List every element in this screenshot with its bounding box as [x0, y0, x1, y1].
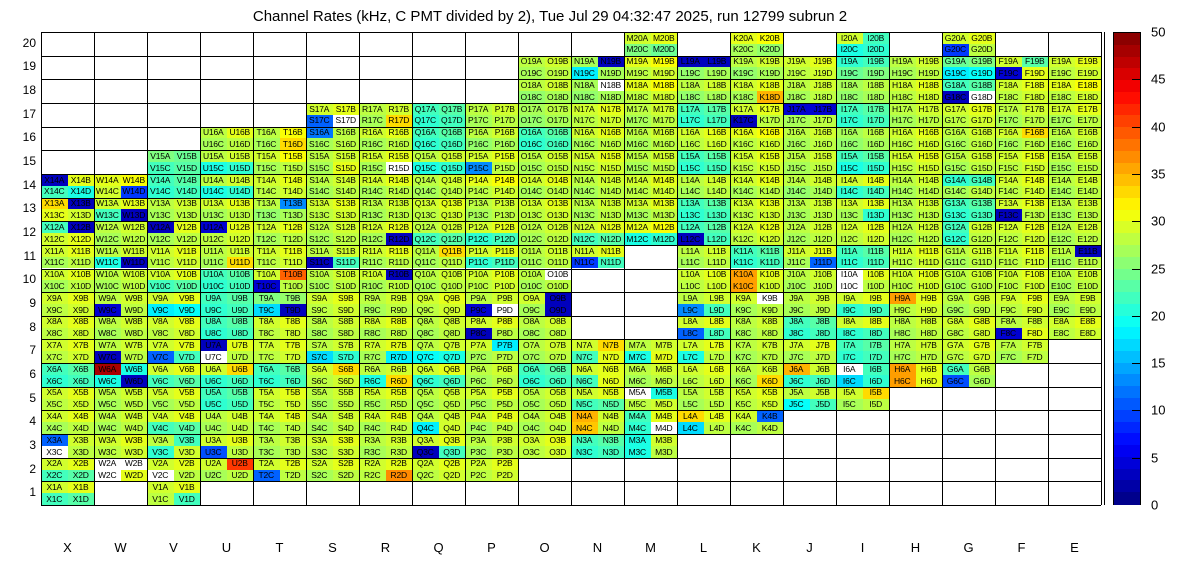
heatmap-cell[interactable]: H9AH9BH9CH9D: [889, 292, 942, 316]
channel-subcell[interactable]: I7A: [836, 339, 863, 351]
channel-subcell[interactable]: M17C: [624, 115, 651, 127]
channel-subcell[interactable]: U16B: [227, 127, 254, 139]
channel-subcell[interactable]: M19D: [651, 67, 678, 79]
channel-subcell[interactable]: J12D: [810, 233, 837, 245]
channel-subcell[interactable]: R7A: [359, 339, 386, 351]
channel-subcell[interactable]: F7C: [995, 351, 1022, 363]
channel-subcell[interactable]: S12B: [333, 221, 360, 233]
channel-subcell[interactable]: U12A: [200, 221, 227, 233]
channel-subcell[interactable]: T9C: [253, 304, 280, 316]
channel-subcell[interactable]: I8C: [836, 328, 863, 340]
heatmap-cell[interactable]: L6AL6BL6CL6D: [677, 363, 730, 387]
channel-subcell[interactable]: L8A: [677, 316, 704, 328]
channel-subcell[interactable]: V7B: [174, 339, 201, 351]
channel-subcell[interactable]: P6D: [492, 375, 519, 387]
channel-subcell[interactable]: M19A: [624, 56, 651, 68]
channel-subcell[interactable]: K18C: [730, 91, 757, 103]
channel-subcell[interactable]: U5C: [200, 399, 227, 411]
channel-subcell[interactable]: R17C: [359, 115, 386, 127]
heatmap-cell[interactable]: K10AK10BK10CK10D: [730, 269, 783, 293]
channel-subcell[interactable]: P2B: [492, 458, 519, 470]
channel-subcell[interactable]: T11A: [253, 245, 280, 257]
channel-subcell[interactable]: X4D: [68, 422, 95, 434]
channel-subcell[interactable]: I10B: [863, 269, 890, 281]
channel-subcell[interactable]: W9C: [94, 304, 121, 316]
heatmap-cell[interactable]: E19AE19BE19CE19D: [1048, 56, 1101, 80]
channel-subcell[interactable]: S16D: [333, 138, 360, 150]
channel-subcell[interactable]: W6B: [121, 363, 148, 375]
heatmap-cell[interactable]: X6AX6BX6CX6D: [41, 363, 94, 387]
channel-subcell[interactable]: P7C: [465, 351, 492, 363]
channel-subcell[interactable]: X14B: [68, 174, 95, 186]
channel-subcell[interactable]: W7D: [121, 351, 148, 363]
heatmap-cell[interactable]: T10AT10BT10CT10D: [253, 269, 306, 293]
channel-subcell[interactable]: J16D: [810, 138, 837, 150]
channel-subcell[interactable]: K17C: [730, 115, 757, 127]
channel-subcell[interactable]: H13A: [889, 198, 916, 210]
channel-subcell[interactable]: O16B: [545, 127, 572, 139]
channel-subcell[interactable]: U8D: [227, 328, 254, 340]
channel-subcell[interactable]: K14C: [730, 186, 757, 198]
channel-subcell[interactable]: R16C: [359, 138, 386, 150]
heatmap-cell[interactable]: R3AR3BR3CR3D: [359, 434, 412, 458]
channel-subcell[interactable]: Q10D: [439, 280, 466, 292]
channel-subcell[interactable]: I11D: [863, 257, 890, 269]
channel-subcell[interactable]: G14B: [969, 174, 996, 186]
channel-subcell[interactable]: P4C: [465, 422, 492, 434]
heatmap-cell[interactable]: O14AO14BO14CO14D: [518, 174, 571, 198]
channel-subcell[interactable]: G18D: [969, 91, 996, 103]
channel-subcell[interactable]: P10B: [492, 269, 519, 281]
channel-subcell[interactable]: P16C: [465, 138, 492, 150]
channel-subcell[interactable]: H9B: [916, 292, 943, 304]
channel-subcell[interactable]: V8A: [147, 316, 174, 328]
channel-subcell[interactable]: O10D: [545, 280, 572, 292]
heatmap-cell[interactable]: E10AE10BE10CE10D: [1048, 269, 1101, 293]
channel-subcell[interactable]: Q6B: [439, 363, 466, 375]
channel-subcell[interactable]: F13D: [1022, 209, 1049, 221]
channel-subcell[interactable]: V15C: [147, 162, 174, 174]
channel-subcell[interactable]: X12C: [41, 233, 68, 245]
channel-subcell[interactable]: V4B: [174, 410, 201, 422]
channel-subcell[interactable]: N6C: [571, 375, 598, 387]
channel-subcell[interactable]: I14B: [863, 174, 890, 186]
channel-subcell[interactable]: Q15D: [439, 162, 466, 174]
channel-subcell[interactable]: I8D: [863, 328, 890, 340]
heatmap-cell[interactable]: J14AJ14BJ14CJ14D: [783, 174, 836, 198]
channel-subcell[interactable]: H7D: [916, 351, 943, 363]
heatmap-cell[interactable]: T16AT16BT16CT16D: [253, 127, 306, 151]
channel-subcell[interactable]: T16A: [253, 127, 280, 139]
channel-subcell[interactable]: T14B: [280, 174, 307, 186]
channel-subcell[interactable]: O17D: [545, 115, 572, 127]
channel-subcell[interactable]: L15A: [677, 150, 704, 162]
channel-subcell[interactable]: G13C: [942, 209, 969, 221]
channel-subcell[interactable]: N12D: [598, 233, 625, 245]
channel-subcell[interactable]: H18B: [916, 79, 943, 91]
channel-subcell[interactable]: P13A: [465, 198, 492, 210]
channel-subcell[interactable]: R8B: [386, 316, 413, 328]
channel-subcell[interactable]: R2A: [359, 458, 386, 470]
heatmap-cell[interactable]: V13AV13BV13CV13D: [147, 198, 200, 222]
channel-subcell[interactable]: E15C: [1048, 162, 1075, 174]
channel-subcell[interactable]: F11B: [1022, 245, 1049, 257]
channel-subcell[interactable]: F9A: [995, 292, 1022, 304]
channel-subcell[interactable]: Q13C: [412, 209, 439, 221]
channel-subcell[interactable]: M13D: [651, 209, 678, 221]
heatmap-cell[interactable]: S14AS14BS14CS14D: [306, 174, 359, 198]
channel-subcell[interactable]: E16D: [1075, 138, 1102, 150]
channel-subcell[interactable]: G6A: [942, 363, 969, 375]
heatmap-cell[interactable]: R9AR9BR9CR9D: [359, 292, 412, 316]
channel-subcell[interactable]: J12A: [783, 221, 810, 233]
channel-subcell[interactable]: U6B: [227, 363, 254, 375]
channel-subcell[interactable]: P9C: [465, 304, 492, 316]
heatmap-cell[interactable]: Q11AQ11BQ11CQ11D: [412, 245, 465, 269]
channel-subcell[interactable]: R10C: [359, 280, 386, 292]
channel-subcell[interactable]: I8B: [863, 316, 890, 328]
channel-subcell[interactable]: L8B: [704, 316, 731, 328]
channel-subcell[interactable]: P6B: [492, 363, 519, 375]
heatmap-cell[interactable]: N4AN4BN4CN4D: [571, 410, 624, 434]
channel-subcell[interactable]: P8D: [492, 328, 519, 340]
heatmap-cell[interactable]: H6AH6BH6CH6D: [889, 363, 942, 387]
channel-subcell[interactable]: T7D: [280, 351, 307, 363]
channel-subcell[interactable]: T14D: [280, 186, 307, 198]
channel-subcell[interactable]: G11A: [942, 245, 969, 257]
channel-subcell[interactable]: Q13D: [439, 209, 466, 221]
heatmap-cell[interactable]: T7AT7BT7CT7D: [253, 339, 306, 363]
channel-subcell[interactable]: G11C: [942, 257, 969, 269]
channel-subcell[interactable]: Q2D: [439, 470, 466, 482]
channel-subcell[interactable]: X9B: [68, 292, 95, 304]
channel-subcell[interactable]: O11A: [518, 245, 545, 257]
channel-subcell[interactable]: S14C: [306, 186, 333, 198]
heatmap-cell[interactable]: G9AG9BG9CG9D: [942, 292, 995, 316]
channel-subcell[interactable]: H6B: [916, 363, 943, 375]
channel-subcell[interactable]: G11D: [969, 257, 996, 269]
channel-subcell[interactable]: K13C: [730, 209, 757, 221]
channel-subcell[interactable]: U6A: [200, 363, 227, 375]
channel-subcell[interactable]: O18C: [518, 91, 545, 103]
heatmap-cell[interactable]: V8AV8BV8CV8D: [147, 316, 200, 340]
channel-subcell[interactable]: M5B: [651, 387, 678, 399]
heatmap-cell[interactable]: K17AK17BK17CK17D: [730, 103, 783, 127]
channel-subcell[interactable]: S4D: [333, 422, 360, 434]
channel-subcell[interactable]: T3D: [280, 446, 307, 458]
channel-subcell[interactable]: I6C: [836, 375, 863, 387]
heatmap-cell[interactable]: E12AE12BE12CE12D: [1048, 221, 1101, 245]
channel-subcell[interactable]: U2D: [227, 470, 254, 482]
channel-subcell[interactable]: W9A: [94, 292, 121, 304]
heatmap-cell[interactable]: H10AH10BH10CH10D: [889, 269, 942, 293]
channel-subcell[interactable]: J10A: [783, 269, 810, 281]
channel-subcell[interactable]: Q16A: [412, 127, 439, 139]
channel-subcell[interactable]: E9B: [1075, 292, 1102, 304]
channel-subcell[interactable]: J10D: [810, 280, 837, 292]
channel-subcell[interactable]: F12D: [1022, 233, 1049, 245]
channel-subcell[interactable]: K10A: [730, 269, 757, 281]
channel-subcell[interactable]: R14C: [359, 186, 386, 198]
heatmap-cell[interactable]: U11AU11BU11CU11D: [200, 245, 253, 269]
channel-subcell[interactable]: S6D: [333, 375, 360, 387]
channel-subcell[interactable]: U14B: [227, 174, 254, 186]
channel-subcell[interactable]: E11D: [1075, 257, 1102, 269]
channel-subcell[interactable]: F7D: [1022, 351, 1049, 363]
channel-subcell[interactable]: I18C: [836, 91, 863, 103]
channel-subcell[interactable]: N18C: [571, 91, 598, 103]
heatmap-cell[interactable]: G18AG18BG18CG18D: [942, 79, 995, 103]
channel-subcell[interactable]: V10A: [147, 269, 174, 281]
heatmap-cell[interactable]: Q13AQ13BQ13CQ13D: [412, 198, 465, 222]
channel-subcell[interactable]: Q12C: [412, 233, 439, 245]
heatmap-cell[interactable]: H16AH16BH16CH16D: [889, 127, 942, 151]
channel-subcell[interactable]: I13D: [863, 209, 890, 221]
channel-subcell[interactable]: L18A: [677, 79, 704, 91]
channel-subcell[interactable]: Q3A: [412, 434, 439, 446]
channel-subcell[interactable]: P9B: [492, 292, 519, 304]
channel-subcell[interactable]: S9C: [306, 304, 333, 316]
channel-subcell[interactable]: R9B: [386, 292, 413, 304]
channel-subcell[interactable]: K20D: [757, 44, 784, 56]
channel-subcell[interactable]: J19A: [783, 56, 810, 68]
heatmap-cell[interactable]: L19AL19BL19CL19D: [677, 56, 730, 80]
channel-subcell[interactable]: U4A: [200, 410, 227, 422]
channel-subcell[interactable]: N6B: [598, 363, 625, 375]
channel-subcell[interactable]: Q2C: [412, 470, 439, 482]
heatmap-cell[interactable]: W3AW3BW3CW3D: [94, 434, 147, 458]
channel-subcell[interactable]: R11C: [359, 257, 386, 269]
heatmap-cell[interactable]: K18AK18BK18CK18D: [730, 79, 783, 103]
channel-subcell[interactable]: E12D: [1075, 233, 1102, 245]
channel-subcell[interactable]: T4C: [253, 422, 280, 434]
channel-subcell[interactable]: M17B: [651, 103, 678, 115]
channel-subcell[interactable]: L16B: [704, 127, 731, 139]
channel-subcell[interactable]: F16A: [995, 127, 1022, 139]
channel-subcell[interactable]: L13B: [704, 198, 731, 210]
channel-subcell[interactable]: V1D: [174, 493, 201, 505]
heatmap-cell[interactable]: R14AR14BR14CR14D: [359, 174, 412, 198]
channel-subcell[interactable]: R4D: [386, 422, 413, 434]
channel-subcell[interactable]: V11D: [174, 257, 201, 269]
channel-subcell[interactable]: U9B: [227, 292, 254, 304]
heatmap-cell[interactable]: L7AL7BL7CL7D: [677, 339, 730, 363]
channel-subcell[interactable]: P3B: [492, 434, 519, 446]
channel-subcell[interactable]: R8A: [359, 316, 386, 328]
channel-subcell[interactable]: O13A: [518, 198, 545, 210]
channel-subcell[interactable]: R12C: [359, 233, 386, 245]
heatmap-cell[interactable]: M3AM3BM3CM3D: [624, 434, 677, 458]
channel-subcell[interactable]: W5D: [121, 399, 148, 411]
channel-subcell[interactable]: I8A: [836, 316, 863, 328]
channel-subcell[interactable]: N19A: [571, 56, 598, 68]
heatmap-cell[interactable]: T14AT14BT14CT14D: [253, 174, 306, 198]
channel-subcell[interactable]: I16A: [836, 127, 863, 139]
channel-subcell[interactable]: V10D: [174, 280, 201, 292]
channel-subcell[interactable]: O18B: [545, 79, 572, 91]
channel-subcell[interactable]: E17A: [1048, 103, 1075, 115]
heatmap-cell[interactable]: P14AP14BP14CP14D: [465, 174, 518, 198]
channel-subcell[interactable]: W7C: [94, 351, 121, 363]
channel-subcell[interactable]: H12C: [889, 233, 916, 245]
channel-subcell[interactable]: F17B: [1022, 103, 1049, 115]
channel-subcell[interactable]: K11A: [730, 245, 757, 257]
channel-subcell[interactable]: H12A: [889, 221, 916, 233]
channel-subcell[interactable]: J18D: [810, 91, 837, 103]
channel-subcell[interactable]: O17C: [518, 115, 545, 127]
channel-subcell[interactable]: O9C: [518, 304, 545, 316]
channel-subcell[interactable]: R11A: [359, 245, 386, 257]
channel-subcell[interactable]: L13D: [704, 209, 731, 221]
channel-subcell[interactable]: K9D: [757, 304, 784, 316]
heatmap-cell[interactable]: X11AX11BX11CX11D: [41, 245, 94, 269]
channel-subcell[interactable]: E10D: [1075, 280, 1102, 292]
channel-subcell[interactable]: E10C: [1048, 280, 1075, 292]
channel-subcell[interactable]: R13B: [386, 198, 413, 210]
channel-subcell[interactable]: M6C: [624, 375, 651, 387]
heatmap-cell[interactable]: E8AE8BE8CE8D: [1048, 316, 1101, 340]
channel-subcell[interactable]: K5B: [757, 387, 784, 399]
channel-subcell[interactable]: S11C: [306, 257, 333, 269]
channel-subcell[interactable]: L14B: [704, 174, 731, 186]
channel-subcell[interactable]: J6D: [810, 375, 837, 387]
channel-subcell[interactable]: V10B: [174, 269, 201, 281]
channel-subcell[interactable]: Q14B: [439, 174, 466, 186]
channel-subcell[interactable]: S5D: [333, 399, 360, 411]
channel-subcell[interactable]: K6B: [757, 363, 784, 375]
channel-subcell[interactable]: R16B: [386, 127, 413, 139]
channel-subcell[interactable]: F13C: [995, 209, 1022, 221]
channel-subcell[interactable]: L6C: [677, 375, 704, 387]
heatmap-cell[interactable]: N15AN15BN15CN15D: [571, 150, 624, 174]
heatmap-cell[interactable]: Q16AQ16BQ16CQ16D: [412, 127, 465, 151]
channel-subcell[interactable]: W9B: [121, 292, 148, 304]
channel-subcell[interactable]: H18A: [889, 79, 916, 91]
channel-subcell[interactable]: X2D: [68, 470, 95, 482]
channel-subcell[interactable]: X14A: [41, 174, 68, 186]
channel-subcell[interactable]: R4A: [359, 410, 386, 422]
channel-subcell[interactable]: P10C: [465, 280, 492, 292]
channel-subcell[interactable]: G14D: [969, 186, 996, 198]
channel-subcell[interactable]: P14C: [465, 186, 492, 198]
heatmap-cell[interactable]: R8AR8BR8CR8D: [359, 316, 412, 340]
channel-subcell[interactable]: E18D: [1075, 91, 1102, 103]
heatmap-cell[interactable]: X8AX8BX8CX8D: [41, 316, 94, 340]
channel-subcell[interactable]: Q8B: [439, 316, 466, 328]
channel-subcell[interactable]: V5D: [174, 399, 201, 411]
channel-subcell[interactable]: E12C: [1048, 233, 1075, 245]
channel-subcell[interactable]: O6B: [545, 363, 572, 375]
channel-subcell[interactable]: E8B: [1075, 316, 1102, 328]
channel-subcell[interactable]: S15B: [333, 150, 360, 162]
channel-subcell[interactable]: F8A: [995, 316, 1022, 328]
channel-subcell[interactable]: G6C: [942, 375, 969, 387]
channel-subcell[interactable]: N4D: [598, 422, 625, 434]
channel-subcell[interactable]: I13C: [836, 209, 863, 221]
channel-subcell[interactable]: V12B: [174, 221, 201, 233]
channel-subcell[interactable]: V3A: [147, 434, 174, 446]
channel-subcell[interactable]: I12D: [863, 233, 890, 245]
channel-subcell[interactable]: L7A: [677, 339, 704, 351]
heatmap-cell[interactable]: L16AL16BL16CL16D: [677, 127, 730, 151]
channel-subcell[interactable]: I18A: [836, 79, 863, 91]
channel-subcell[interactable]: F16B: [1022, 127, 1049, 139]
channel-subcell[interactable]: N5A: [571, 387, 598, 399]
channel-subcell[interactable]: S16A: [306, 127, 333, 139]
channel-subcell[interactable]: F9B: [1022, 292, 1049, 304]
channel-subcell[interactable]: W2B: [121, 458, 148, 470]
channel-subcell[interactable]: T16B: [280, 127, 307, 139]
channel-subcell[interactable]: V4A: [147, 410, 174, 422]
channel-subcell[interactable]: H8C: [889, 328, 916, 340]
channel-subcell[interactable]: I9D: [863, 304, 890, 316]
channel-subcell[interactable]: L16C: [677, 138, 704, 150]
heatmap-cell[interactable]: V7AV7BV7CV7D: [147, 339, 200, 363]
channel-subcell[interactable]: G15D: [969, 162, 996, 174]
heatmap-cell[interactable]: M13AM13BM13CM13D: [624, 198, 677, 222]
heatmap-cell[interactable]: P5AP5BP5CP5D: [465, 387, 518, 411]
channel-subcell[interactable]: X7A: [41, 339, 68, 351]
channel-subcell[interactable]: F14D: [1022, 186, 1049, 198]
channel-subcell[interactable]: N11A: [571, 245, 598, 257]
channel-subcell[interactable]: S8C: [306, 328, 333, 340]
channel-subcell[interactable]: J8A: [783, 316, 810, 328]
heatmap-cell[interactable]: K11AK11BK11CK11D: [730, 245, 783, 269]
channel-subcell[interactable]: H17C: [889, 115, 916, 127]
channel-subcell[interactable]: U9D: [227, 304, 254, 316]
channel-subcell[interactable]: M15D: [651, 162, 678, 174]
channel-subcell[interactable]: N11B: [598, 245, 625, 257]
heatmap-cell[interactable]: J15AJ15BJ15CJ15D: [783, 150, 836, 174]
channel-subcell[interactable]: V3D: [174, 446, 201, 458]
channel-subcell[interactable]: L6D: [704, 375, 731, 387]
channel-subcell[interactable]: F14B: [1022, 174, 1049, 186]
heatmap-cell[interactable]: I18AI18BI18CI18D: [836, 79, 889, 103]
heatmap-cell[interactable]: M7AM7BM7CM7D: [624, 339, 677, 363]
heatmap-cell[interactable]: W14AW14BW14CW14D: [94, 174, 147, 198]
channel-subcell[interactable]: I10A: [836, 269, 863, 281]
channel-subcell[interactable]: R10B: [386, 269, 413, 281]
heatmap-cell[interactable]: I19AI19BI19CI19D: [836, 56, 889, 80]
channel-subcell[interactable]: I6B: [863, 363, 890, 375]
channel-subcell[interactable]: Q5C: [412, 399, 439, 411]
channel-subcell[interactable]: H17B: [916, 103, 943, 115]
heatmap-cell[interactable]: X12AX12BX12CX12D: [41, 221, 94, 245]
heatmap-cell[interactable]: T13AT13BT13CT13D: [253, 198, 306, 222]
channel-subcell[interactable]: Q17D: [439, 115, 466, 127]
channel-subcell[interactable]: K13D: [757, 209, 784, 221]
channel-subcell[interactable]: V13A: [147, 198, 174, 210]
channel-subcell[interactable]: Q13A: [412, 198, 439, 210]
channel-subcell[interactable]: U16A: [200, 127, 227, 139]
channel-subcell[interactable]: W3D: [121, 446, 148, 458]
channel-subcell[interactable]: S5A: [306, 387, 333, 399]
channel-subcell[interactable]: K7C: [730, 351, 757, 363]
channel-subcell[interactable]: K14A: [730, 174, 757, 186]
channel-subcell[interactable]: O6D: [545, 375, 572, 387]
channel-subcell[interactable]: H19C: [889, 67, 916, 79]
heatmap-cell[interactable]: O11AO11BO11CO11D: [518, 245, 571, 269]
heatmap-cell[interactable]: H19AH19BH19CH19D: [889, 56, 942, 80]
channel-subcell[interactable]: J9B: [810, 292, 837, 304]
channel-subcell[interactable]: I18D: [863, 91, 890, 103]
channel-subcell[interactable]: N15C: [571, 162, 598, 174]
channel-subcell[interactable]: V7C: [147, 351, 174, 363]
channel-subcell[interactable]: F10A: [995, 269, 1022, 281]
channel-subcell[interactable]: X13B: [68, 198, 95, 210]
heatmap-cell[interactable]: I8AI8BI8CI8D: [836, 316, 889, 340]
channel-subcell[interactable]: W5B: [121, 387, 148, 399]
